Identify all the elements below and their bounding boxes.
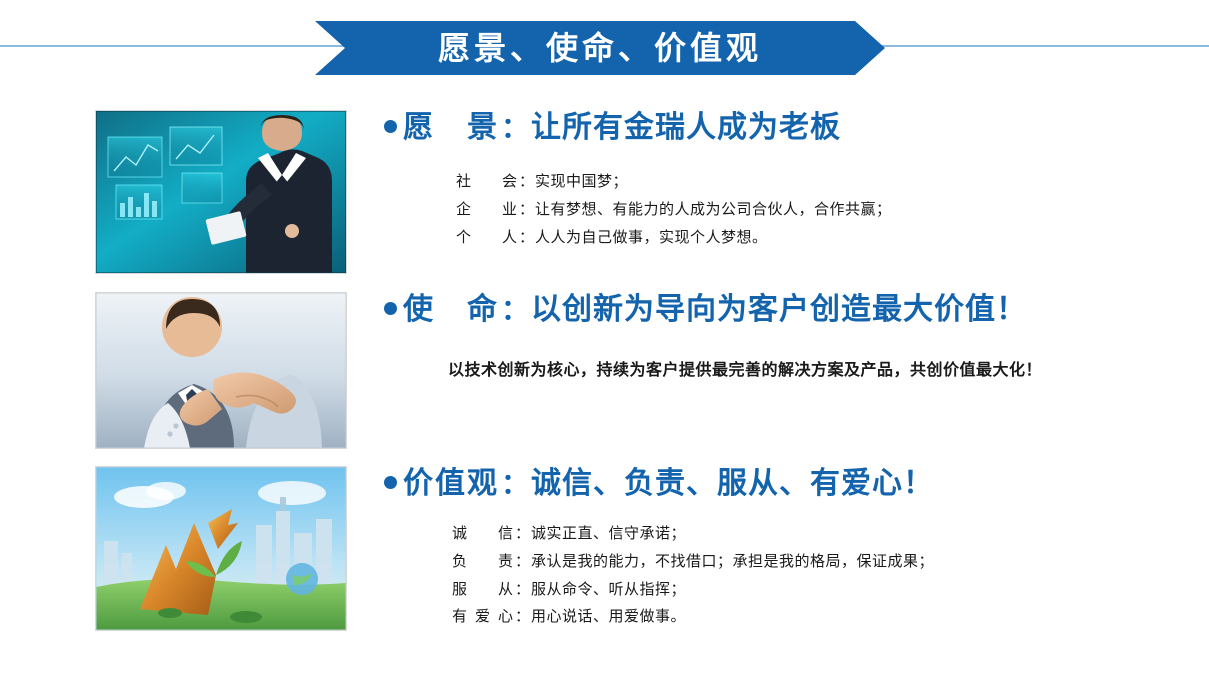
section-values: 价值观 ： 诚信、负责、服从、有爱心！ 诚 信 ： 诚实正直、信守承诺； 负 责… [0, 466, 1209, 629]
vision-label: 愿 景 [403, 110, 499, 146]
bullet-icon [384, 302, 397, 315]
list-item: 企 业 ： 让有梦想、有能力的人成为公司合伙人，合作共赢； [456, 196, 1189, 224]
section-mission: 使 命 ： 以创新为导向为客户创造最大价值！ 以技术创新为核心，持续为客户提供最… [0, 292, 1209, 447]
detail-key: 社 会 [456, 168, 518, 196]
detail-key: 企 业 [456, 196, 518, 224]
page-title: 愿景、使命、价值观 [438, 32, 762, 64]
detail-value: 让有梦想、有能力的人成为公司合伙人，合作共赢； [535, 196, 892, 224]
mission-text-block: 使 命 ： 以创新为导向为客户创造最大价值！ 以技术创新为核心，持续为客户提供最… [384, 292, 1189, 380]
mission-statement: 以创新为导向为客户创造最大价值！ [531, 292, 1027, 328]
header-banner: 愿景、使命、价值观 [315, 21, 885, 75]
businessman-touchscreen-photo [96, 111, 346, 273]
vision-image [95, 110, 347, 274]
growth-arrow-city-photo [96, 467, 346, 630]
vision-detail-list: 社 会 ： 实现中国梦； 企 业 ： 让有梦想、有能力的人成为公司合伙人，合作共… [456, 168, 1189, 251]
vision-heading: 愿 景 ： 让所有金瑞人成为老板 [384, 110, 1189, 146]
handshake-photo [96, 293, 346, 448]
list-item: 诚 信 ： 诚实正直、信守承诺； [452, 520, 1189, 548]
list-item: 社 会 ： 实现中国梦； [456, 168, 1189, 196]
detail-separator: ： [514, 603, 531, 631]
values-text-block: 价值观 ： 诚信、负责、服从、有爱心！ 诚 信 ： 诚实正直、信守承诺； 负 责… [384, 466, 1189, 631]
values-colon: ： [499, 467, 531, 501]
values-label: 价值观 [403, 466, 499, 502]
list-item: 负 责 ： 承认是我的能力，不找借口；承担是我的格局，保证成果； [452, 548, 1189, 576]
detail-value: 诚实正直、信守承诺； [531, 520, 686, 548]
detail-separator: ： [518, 224, 535, 252]
mission-colon: ： [499, 293, 531, 327]
list-item: 有爱心 ： 用心说话、用爱做事。 [452, 603, 1189, 631]
detail-key: 服 从 [452, 576, 514, 604]
mission-label: 使 命 [403, 292, 499, 328]
detail-separator: ： [518, 196, 535, 224]
vision-colon: ： [499, 111, 531, 145]
mission-summary: 以技术创新为核心，持续为客户提供最完善的解决方案及产品，共创价值最大化！ [448, 356, 1189, 380]
values-statement: 诚信、负责、服从、有爱心！ [531, 466, 934, 502]
values-detail-list: 诚 信 ： 诚实正直、信守承诺； 负 责 ： 承认是我的能力，不找借口；承担是我… [452, 520, 1189, 631]
vision-text-block: 愿 景 ： 让所有金瑞人成为老板 社 会 ： 实现中国梦； 企 业 ： 让有梦想… [384, 110, 1189, 251]
list-item: 个 人 ： 人人为自己做事，实现个人梦想。 [456, 224, 1189, 252]
detail-separator: ： [514, 520, 531, 548]
values-heading: 价值观 ： 诚信、负责、服从、有爱心！ [384, 466, 1189, 502]
section-vision: 愿 景 ： 让所有金瑞人成为老板 社 会 ： 实现中国梦； 企 业 ： 让有梦想… [0, 110, 1209, 275]
detail-value: 承认是我的能力，不找借口；承担是我的格局，保证成果； [531, 548, 934, 576]
detail-key: 个 人 [456, 224, 518, 252]
vision-statement: 让所有金瑞人成为老板 [531, 110, 841, 146]
detail-separator: ： [514, 576, 531, 604]
detail-key: 负 责 [452, 548, 514, 576]
page-header: 愿景、使命、价值观 [0, 0, 1209, 92]
detail-separator: ： [518, 168, 535, 196]
detail-value: 实现中国梦； [535, 168, 628, 196]
detail-key: 有爱心 [452, 603, 514, 631]
detail-value: 人人为自己做事，实现个人梦想。 [535, 224, 768, 252]
detail-value: 用心说话、用爱做事。 [531, 603, 686, 631]
values-image [95, 466, 347, 631]
detail-separator: ： [514, 548, 531, 576]
bullet-icon [384, 476, 397, 489]
mission-image [95, 292, 347, 449]
list-item: 服 从 ： 服从命令、听从指挥； [452, 576, 1189, 604]
mission-heading: 使 命 ： 以创新为导向为客户创造最大价值！ [384, 292, 1189, 328]
detail-key: 诚 信 [452, 520, 514, 548]
detail-value: 服从命令、听从指挥； [531, 576, 686, 604]
bullet-icon [384, 120, 397, 133]
